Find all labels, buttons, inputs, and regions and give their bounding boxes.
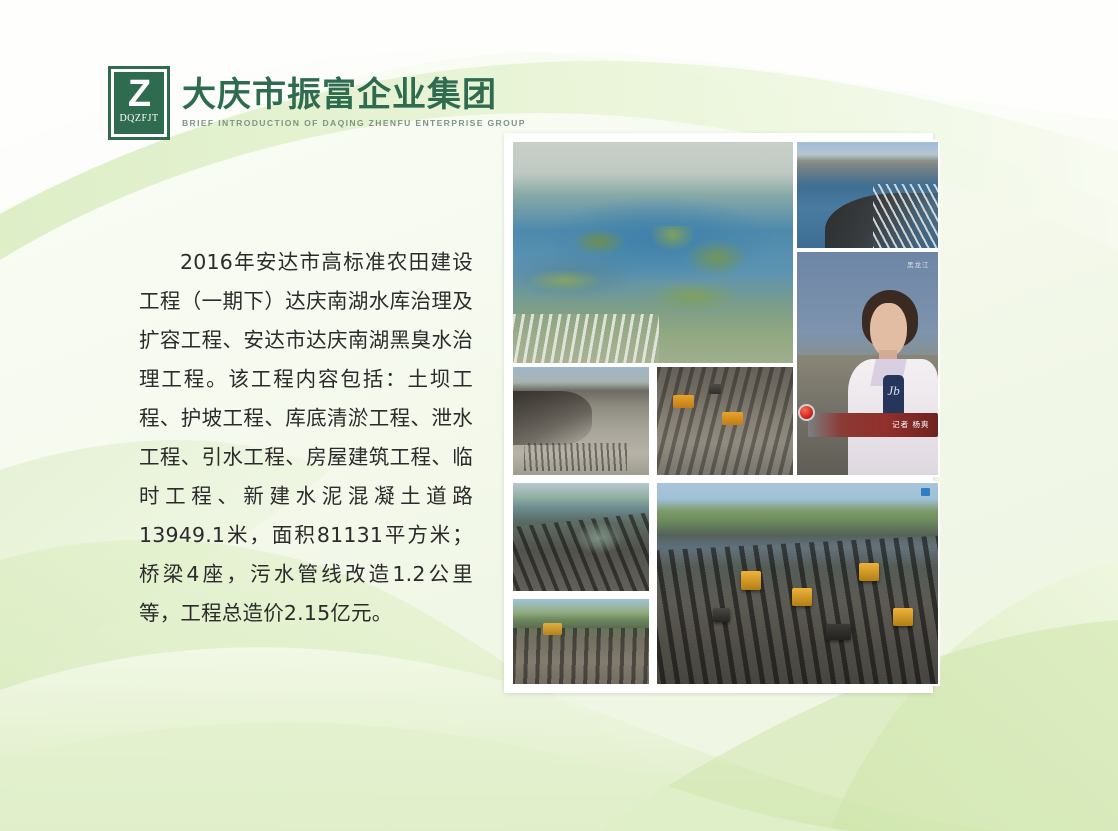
photo-dredged-channel-aerial [511,481,651,593]
photo-loaders-on-embankment [511,597,651,686]
microphone-logo: Jb [887,383,899,399]
brand-text-block: 大庆市振富企业集团 BRIEF INTRODUCTION OF DAQING Z… [182,66,526,128]
photo-wide-dredging-panorama [655,481,940,686]
company-name-cn: 大庆市振富企业集团 [182,76,526,114]
reporter-face [870,303,907,357]
logo-abbreviation: DQZFJT [119,113,158,124]
photo-aerial-shoreline-reservoir [795,140,940,250]
photo-collage: 黑龙江 Jb 记者 杨爽 [504,133,933,693]
slide-root: Z DQZFJT 大庆市振富企业集团 BRIEF INTRODUCTION OF… [0,0,1118,831]
news-lower-third-banner: 记者 杨爽 [808,413,938,438]
photo-bulldozers-sludge-field [655,365,795,477]
crawler-icon [826,624,851,640]
photo-lake-masterplan-rendering [511,140,795,365]
project-description-paragraph: 2016年安达市高标准农田建设工程（一期下）达庆南湖水库治理及扩容工程、安达市达… [139,243,473,633]
channel-badge-icon [921,488,930,496]
reporter-name-label: 记者 杨爽 [892,419,929,430]
truck-icon [709,384,721,394]
company-logo-icon: Z DQZFJT [108,66,170,140]
bulldozer-icon [722,412,742,425]
record-dot-icon [798,404,815,421]
photo-excavator-site-left [511,365,651,477]
excavator-icon [792,588,812,606]
photo-tv-news-reporter: 黑龙江 Jb 记者 杨爽 [795,250,940,477]
excavator-icon [859,563,879,581]
excavator-icon [893,608,913,626]
company-name-en: BRIEF INTRODUCTION OF DAQING ZHENFU ENTE… [182,118,526,128]
excavator-icon [741,571,761,589]
brand-lockup: Z DQZFJT 大庆市振富企业集团 BRIEF INTRODUCTION OF… [108,66,526,140]
bulldozer-icon [673,395,693,408]
logo-letter-z: Z [128,76,150,112]
crawler-icon [713,608,730,622]
channel-watermark: 黑龙江 [907,259,930,269]
wheel-loader-icon [543,623,562,635]
